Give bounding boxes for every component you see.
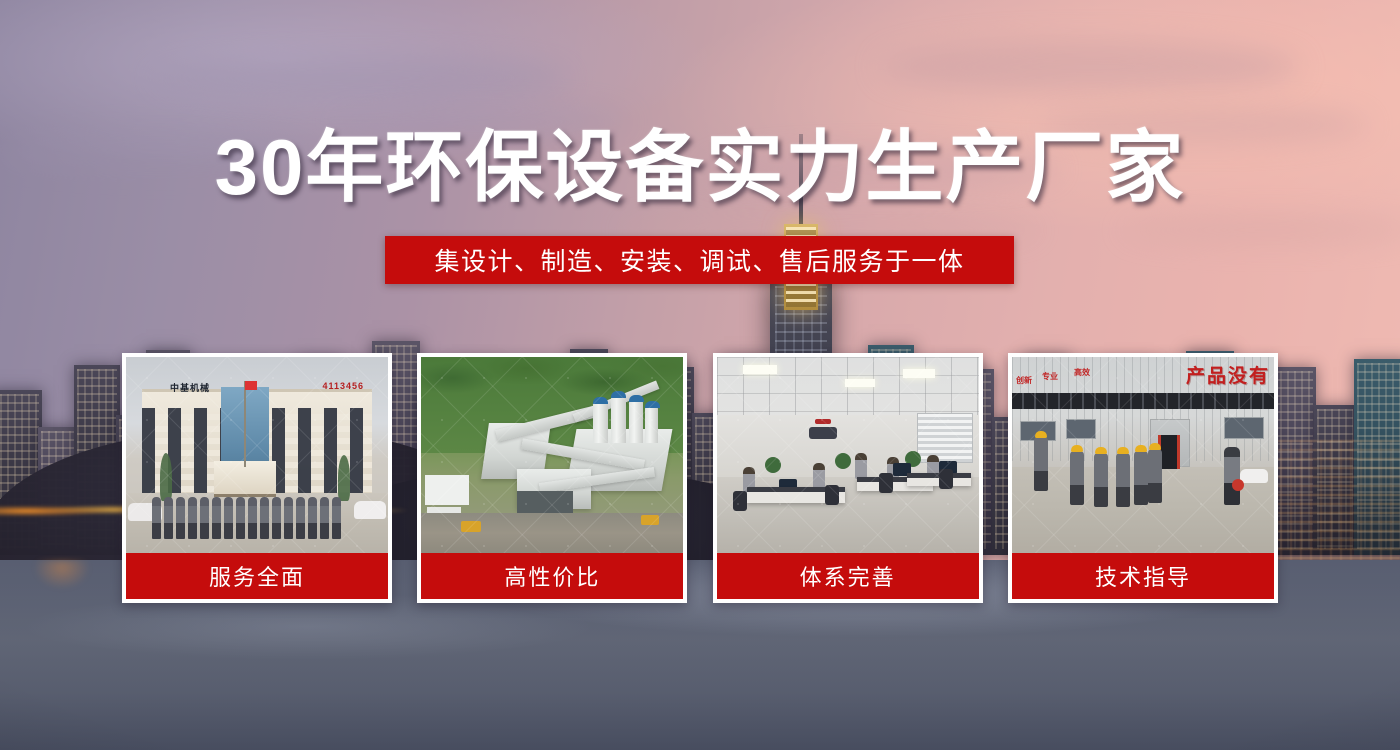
office-building-staff-photo: 中基机械 4113456 (126, 357, 388, 553)
red-helmet-icon (1232, 479, 1244, 491)
factory-slogan: 创新 (1016, 375, 1032, 386)
card-label-guidance: 技术指导 (1012, 553, 1274, 599)
flag-icon (245, 381, 257, 390)
feature-card-service[interactable]: 中基机械 4113456 服务全面 (122, 353, 392, 603)
factory-sign-text: 产品没有 (1186, 361, 1270, 388)
factory-workers-training-photo: 产品没有 创新 专业 高效 (1012, 357, 1274, 553)
banner-stage: 30年环保设备实力生产厂家 集设计、制造、安装、调试、售后服务于一体 中基机械 … (0, 0, 1400, 750)
cloud (880, 40, 1300, 94)
feature-card-list: 中基机械 4113456 服务全面 (122, 353, 1278, 603)
office-interior-staff-photo (717, 357, 979, 553)
cloud (150, 55, 570, 101)
factory-slogan: 高效 (1074, 367, 1090, 378)
card-label-system: 体系完善 (717, 553, 979, 599)
card-label-service: 服务全面 (126, 553, 388, 599)
staff-row (152, 497, 364, 541)
wall-decal (805, 419, 841, 445)
feature-card-guidance[interactable]: 产品没有 创新 专业 高效 技术指导 (1008, 353, 1278, 603)
page-title: 30年环保设备实力生产厂家 (0, 128, 1400, 208)
card-label-value: 高性价比 (421, 553, 683, 599)
factory-slogan: 专业 (1042, 371, 1058, 382)
feature-card-value[interactable]: 高性价比 (417, 353, 687, 603)
building-phone-text: 4113456 (322, 381, 364, 391)
subtitle-banner: 集设计、制造、安装、调试、售后服务于一体 (385, 236, 1014, 284)
aerial-industrial-plant-photo (421, 357, 683, 553)
window-blinds (917, 413, 973, 463)
feature-card-system[interactable]: 体系完善 (713, 353, 983, 603)
building-sign-text: 中基机械 (170, 381, 210, 394)
cloud (1120, 215, 1400, 245)
subtitle-text: 集设计、制造、安装、调试、售后服务于一体 (434, 242, 964, 278)
